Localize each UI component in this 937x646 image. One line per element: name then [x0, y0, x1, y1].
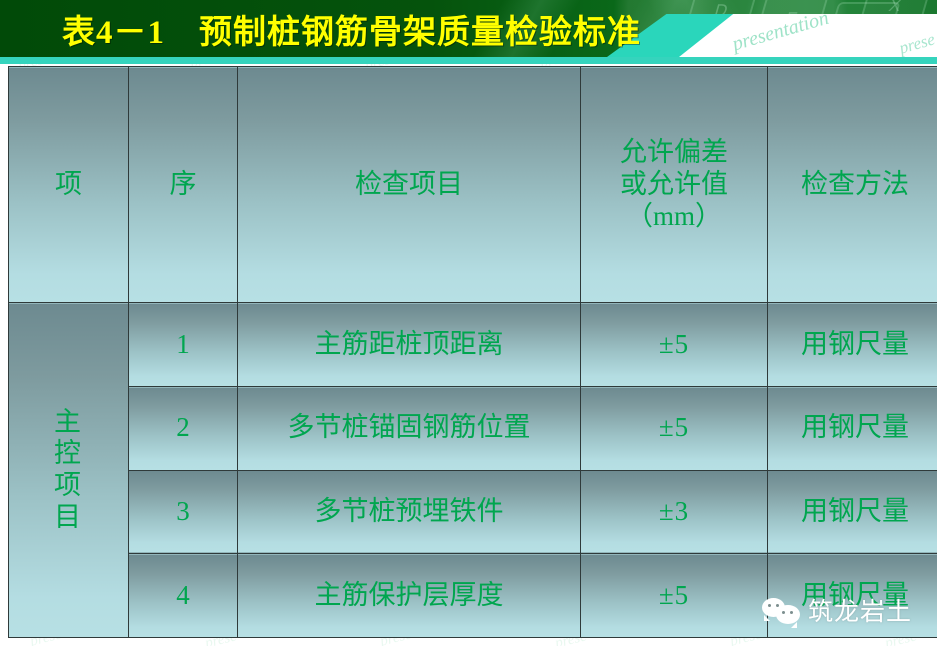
- cell-tolerance: ±5: [581, 303, 768, 387]
- cell-check: 多节桩预埋铁件: [238, 470, 581, 554]
- table-row: 主 控 项 目 1 主筋距桩顶距离 ±5 用钢尺量: [9, 303, 937, 387]
- title-banner: D F K Z X presentation prese 表4－1 预制桩钢筋骨…: [0, 0, 937, 57]
- cell-tolerance: ±5: [581, 387, 768, 471]
- group-label-char: 主: [10, 407, 127, 439]
- cell-tolerance: ±5: [581, 554, 768, 638]
- cell-method: 用钢尺量: [768, 303, 937, 387]
- accent-strip: [0, 57, 937, 64]
- cell-method: 用钢尺量: [768, 470, 937, 554]
- table-header-row: 项 序 检查项目 允许偏差 或允许值 （mm） 检查方法: [9, 67, 937, 303]
- banner-decoration-word: presentation: [730, 7, 832, 56]
- cell-seq: 4: [129, 554, 238, 638]
- table-row: 3 多节桩预埋铁件 ±3 用钢尺量: [9, 470, 937, 554]
- column-header-tolerance-line3: （mm）: [582, 201, 766, 233]
- cell-check: 主筋距桩顶距离: [238, 303, 581, 387]
- row-group-label-main-control: 主 控 项 目: [9, 303, 129, 638]
- group-label-char: 项: [10, 470, 127, 502]
- quality-standard-table: 项 序 检查项目 允许偏差 或允许值 （mm） 检查方法 主 控 项: [8, 66, 937, 638]
- column-header-item: 项: [9, 67, 129, 303]
- cell-method: 用钢尺量: [768, 554, 937, 638]
- column-header-tolerance-line1: 允许偏差: [582, 137, 766, 169]
- cell-check: 多节桩锚固钢筋位置: [238, 387, 581, 471]
- cell-seq: 2: [129, 387, 238, 471]
- page-title: 表4－1 预制桩钢筋骨架质量检验标准: [62, 3, 641, 55]
- group-label-char: 控: [10, 438, 127, 470]
- quality-standard-table-wrapper: 项 序 检查项目 允许偏差 或允许值 （mm） 检查方法 主 控 项: [8, 66, 927, 638]
- column-header-check: 检查项目: [238, 67, 581, 303]
- cell-tolerance: ±3: [581, 470, 768, 554]
- cell-seq: 3: [129, 470, 238, 554]
- column-header-method: 检查方法: [768, 67, 937, 303]
- table-row: 4 主筋保护层厚度 ±5 用钢尺量: [9, 554, 937, 638]
- cell-check: 主筋保护层厚度: [238, 554, 581, 638]
- table-row: 2 多节桩锚固钢筋位置 ±5 用钢尺量: [9, 387, 937, 471]
- slide-canvas: prese prese prese prese prese prese pres…: [0, 0, 937, 646]
- group-label-char: 目: [10, 502, 127, 534]
- column-header-tolerance: 允许偏差 或允许值 （mm）: [581, 67, 768, 303]
- column-header-tolerance-line2: 或允许值: [582, 169, 766, 201]
- cell-method: 用钢尺量: [768, 387, 937, 471]
- cell-seq: 1: [129, 303, 238, 387]
- column-header-seq: 序: [129, 67, 238, 303]
